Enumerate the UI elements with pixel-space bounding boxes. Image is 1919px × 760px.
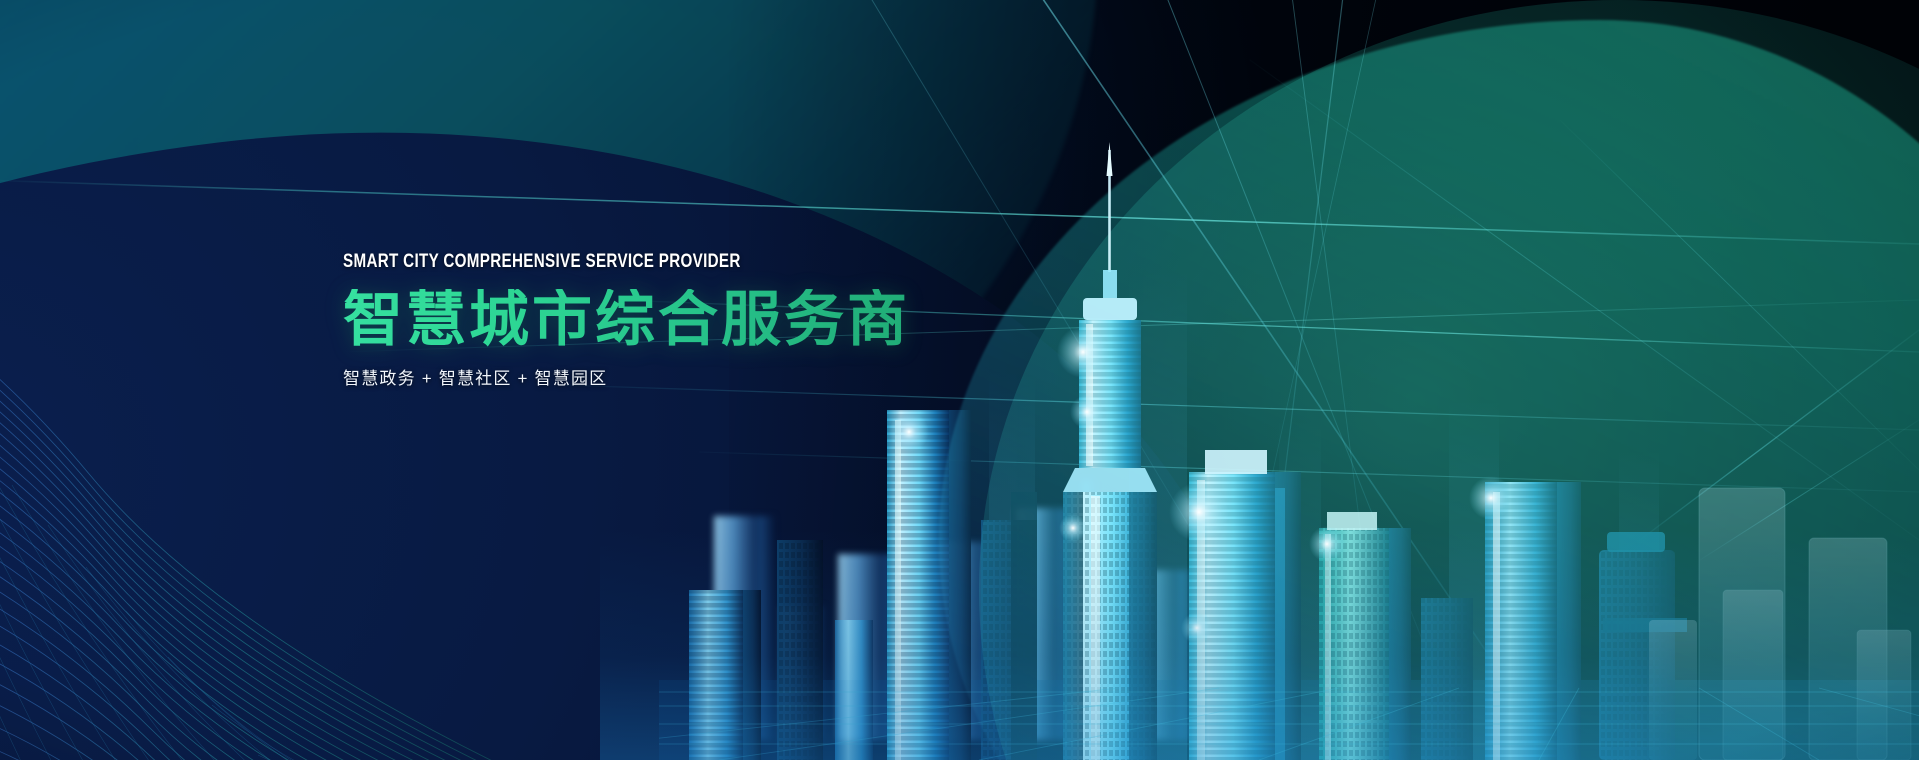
smart-city-hero-banner: SMART CITY COMPREHENSIVE SERVICE PROVIDE… <box>0 0 1919 760</box>
hero-headline: 智慧城市综合服务商 <box>343 289 1063 350</box>
hero-eyebrow: SMART CITY COMPREHENSIVE SERVICE PROVIDE… <box>343 252 919 271</box>
hero-subline: 智慧政务 + 智慧社区 + 智慧园区 <box>343 370 1063 387</box>
hero-copy-block: SMART CITY COMPREHENSIVE SERVICE PROVIDE… <box>343 252 1063 387</box>
